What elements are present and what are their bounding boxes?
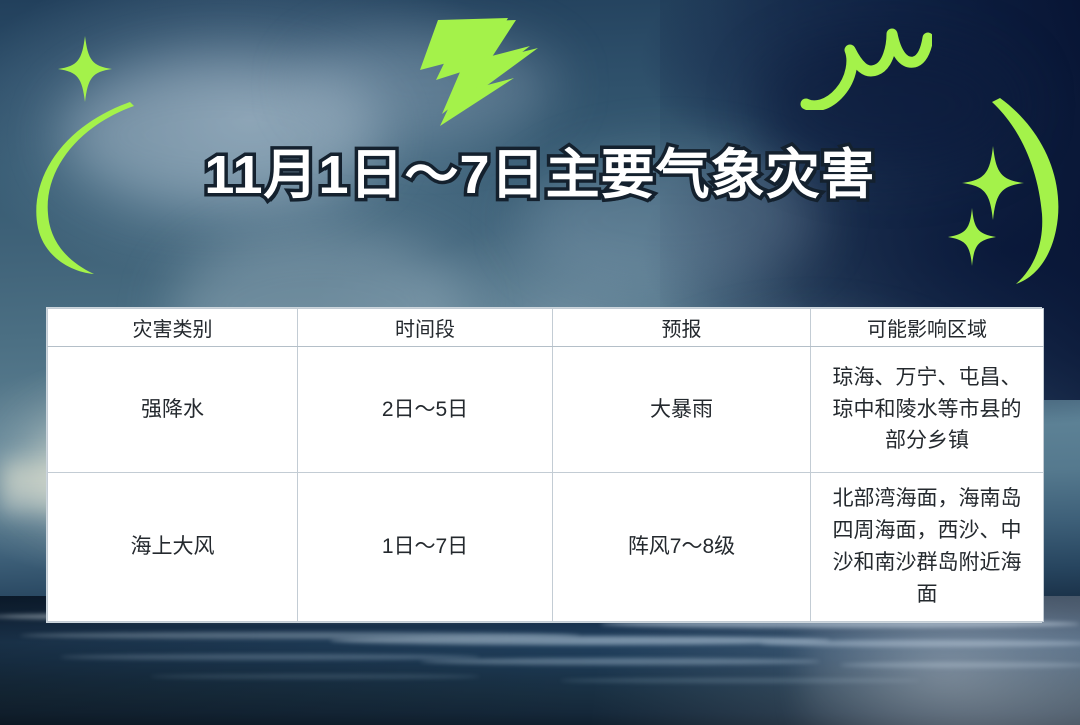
cell-forecast: 阵风7～8级 <box>553 473 811 622</box>
table-header-row: 灾害类别 时间段 预报 可能影响区域 <box>48 309 1044 347</box>
table-row: 海上大风 1日～7日 阵风7～8级 北部湾海面，海南岛四周海面，西沙、中沙和南沙… <box>48 473 1044 622</box>
column-header-forecast: 预报 <box>553 309 811 347</box>
wave-line <box>760 640 1080 647</box>
weather-disaster-poster: 11月1日～7日主要气象灾害 灾害类别 时间段 预报 可能影响区域 强降水 2日… <box>0 0 1080 725</box>
page-title: 11月1日～7日主要气象灾害 <box>204 146 875 205</box>
cell-disaster-type: 强降水 <box>48 347 298 473</box>
cell-time-period: 2日～5日 <box>298 347 553 473</box>
cell-disaster-type: 海上大风 <box>48 473 298 622</box>
sparkle-star-left-icon <box>58 36 112 102</box>
column-header-affected-area: 可能影响区域 <box>811 309 1044 347</box>
wave-line <box>420 658 820 665</box>
cell-forecast: 大暴雨 <box>553 347 811 473</box>
wave-line <box>840 662 1080 668</box>
sparkle-star-right-small-icon <box>948 208 996 266</box>
cell-affected-area: 琼海、万宁、屯昌、琼中和陵水等市县的部分乡镇 <box>811 347 1044 473</box>
wave-line <box>150 674 480 679</box>
column-header-disaster-type: 灾害类别 <box>48 309 298 347</box>
poster-title-container: 11月1日～7日主要气象灾害 <box>0 146 1080 205</box>
wave-line <box>60 654 480 660</box>
table-row: 强降水 2日～5日 大暴雨 琼海、万宁、屯昌、琼中和陵水等市县的部分乡镇 <box>48 347 1044 473</box>
cell-time-period: 1日～7日 <box>298 473 553 622</box>
column-header-time-period: 时间段 <box>298 309 553 347</box>
disaster-table-container: 灾害类别 时间段 预报 可能影响区域 强降水 2日～5日 大暴雨 琼海、万宁、屯… <box>46 307 1042 623</box>
wave-line <box>560 678 920 683</box>
disaster-table: 灾害类别 时间段 预报 可能影响区域 强降水 2日～5日 大暴雨 琼海、万宁、屯… <box>47 308 1044 622</box>
wave-line <box>20 632 580 639</box>
wave-line <box>330 636 830 645</box>
cell-affected-area: 北部湾海面，海南岛四周海面，西沙、中沙和南沙群岛附近海面 <box>811 473 1044 622</box>
